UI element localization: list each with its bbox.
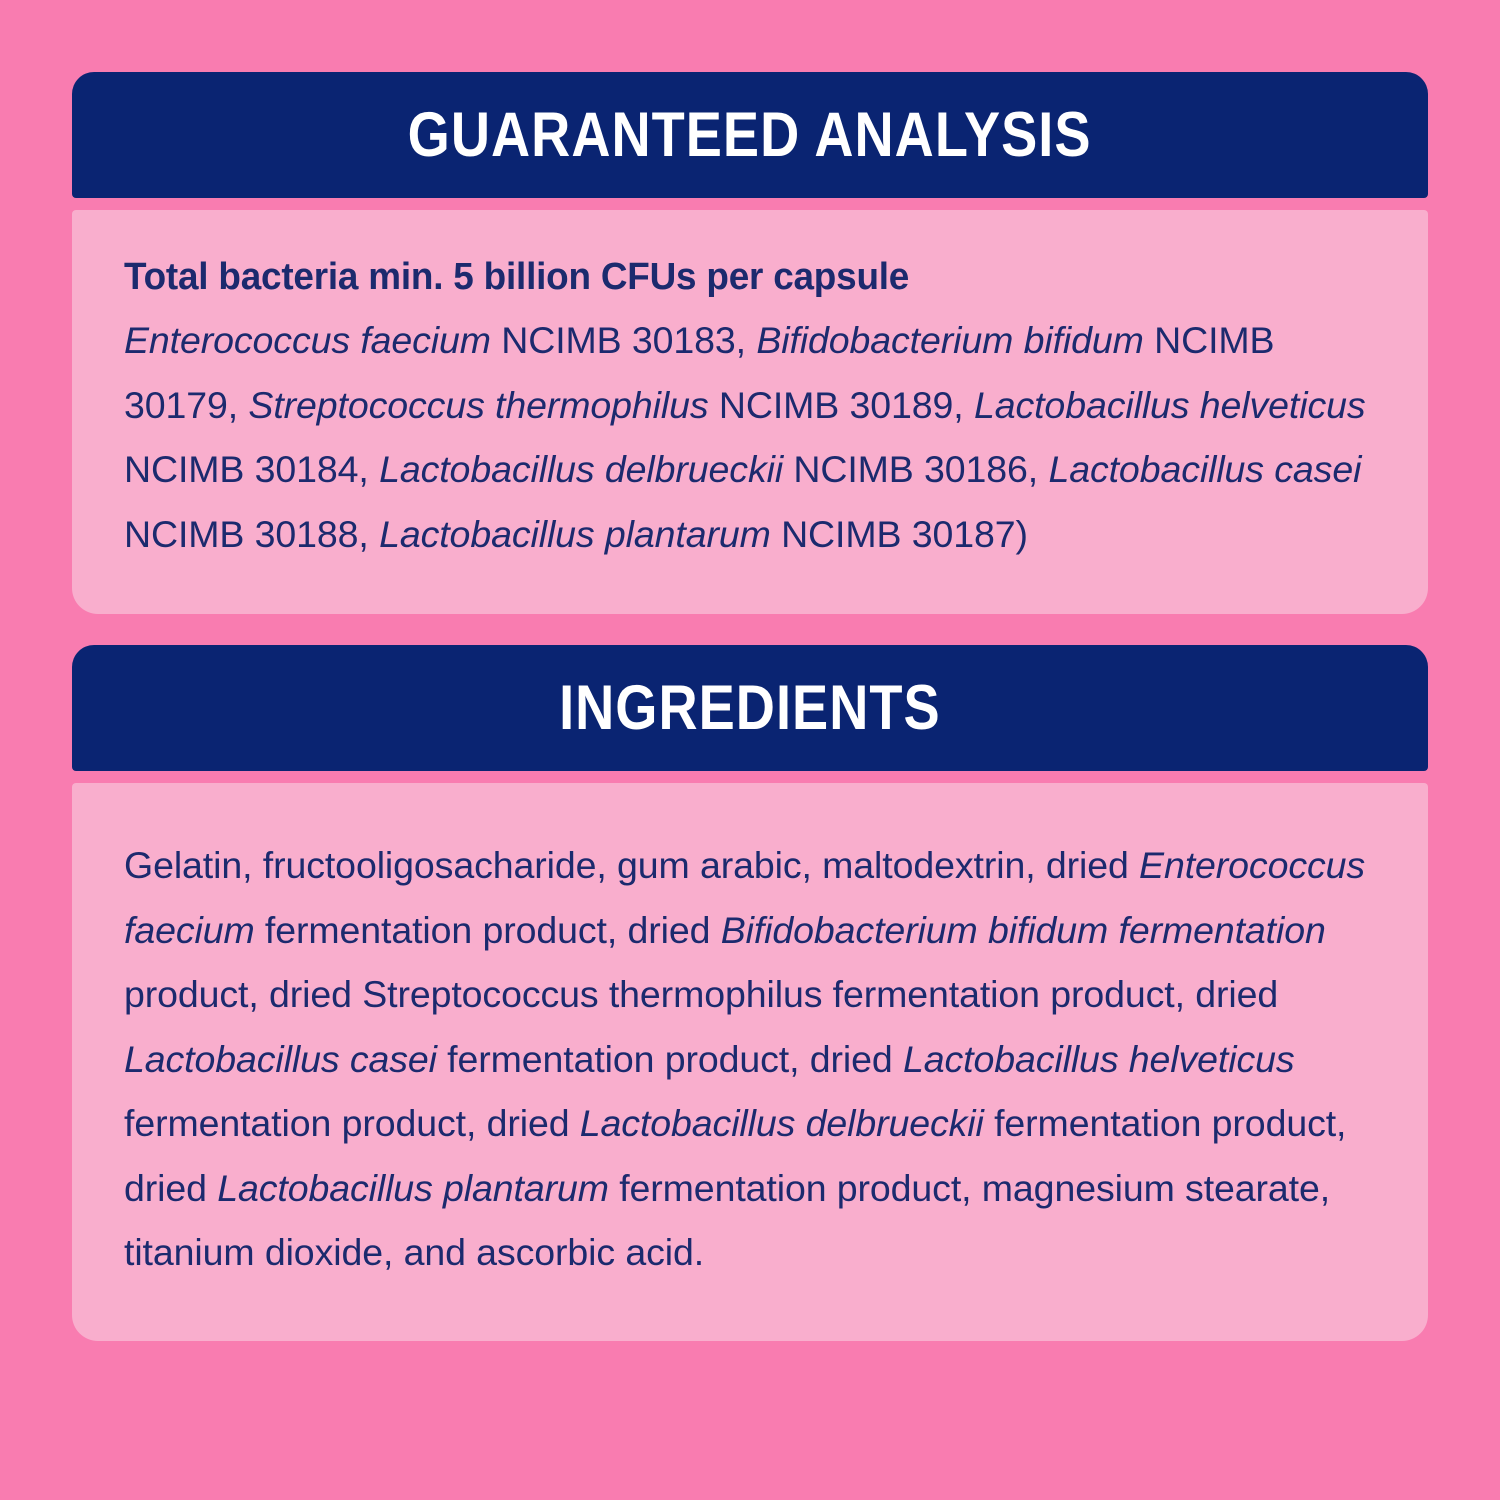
guaranteed-analysis-header: GUARANTEED ANALYSIS <box>72 72 1428 198</box>
ingredients-text: Gelatin, fructooligosacharide, gum arabi… <box>124 833 1378 1285</box>
guaranteed-analysis-header-title: GUARANTEED ANALYSIS <box>408 104 1092 167</box>
ingredients-header-title: INGREDIENTS <box>559 677 941 740</box>
ingredients-header: INGREDIENTS <box>72 645 1428 771</box>
ingredients-body: Gelatin, fructooligosacharide, gum arabi… <box>72 783 1428 1341</box>
guaranteed-analysis-body: Total bacteria min. 5 billion CFUs per c… <box>72 210 1428 614</box>
section-guaranteed-analysis: GUARANTEED ANALYSIS Total bacteria min. … <box>72 72 1428 614</box>
section-ingredients: INGREDIENTS Gelatin, fructooligosacharid… <box>72 645 1428 1341</box>
guaranteed-analysis-text: Total bacteria min. 5 billion CFUs per c… <box>124 246 1378 566</box>
guaranteed-analysis-strain-list: Enterococcus faecium NCIMB 30183, Bifido… <box>124 319 1366 555</box>
supplement-label-panel: GUARANTEED ANALYSIS Total bacteria min. … <box>72 72 1428 1341</box>
ingredients-list: Gelatin, fructooligosacharide, gum arabi… <box>124 844 1365 1273</box>
guaranteed-analysis-lede: Total bacteria min. 5 billion CFUs per c… <box>124 246 1340 308</box>
